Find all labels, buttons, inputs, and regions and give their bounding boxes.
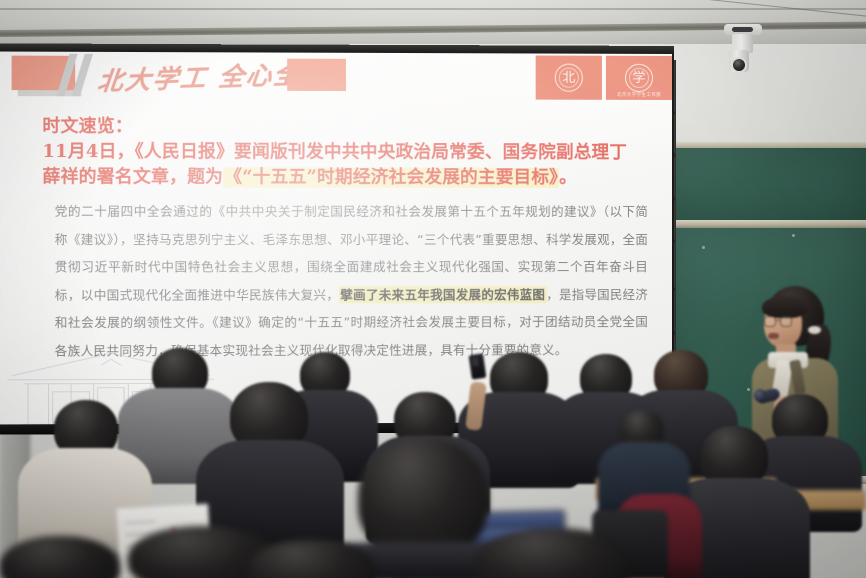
presenter-bangs [762, 296, 808, 318]
classroom-scene: 北大学工 全心全意 北 学 北京大学学生工作部 [0, 0, 866, 578]
institution-seal-icon: 学 北京大学学生工作部 [606, 56, 672, 100]
eyeglasses-icon [764, 316, 794, 327]
chalk-speck [702, 246, 705, 249]
seal-ring: 学 [625, 64, 653, 92]
slide-header: 北大学工 全心全意 北 学 北京大学学生工作部 [0, 51, 672, 112]
header-accent-block-right [287, 59, 346, 91]
upper-right-wall [672, 44, 866, 144]
lens-left [764, 316, 776, 327]
chalkboard-upper [672, 148, 866, 220]
header-logo-group: 北 学 北京大学学生工作部 [536, 55, 672, 99]
slide-title-block: 时文速览： 11月4日，《人民日报》要闻版刊发中共中央政治局常委、国务院副总理丁… [42, 114, 650, 190]
slide-title-line2-prefix: 薛祥的署名文章，题为 [42, 167, 223, 187]
chalk-speck [792, 234, 795, 237]
ceiling-seam [0, 8, 866, 10]
smartphone-icon[interactable] [468, 353, 486, 380]
slide-title-line2: 薛祥的署名文章，题为《“十五五”时期经济社会发展的主要目标》。 [42, 165, 650, 191]
seal-glyph: 学 [632, 71, 645, 84]
peking-university-seal-icon: 北 [536, 55, 602, 99]
calligraphy-logo: 北大学工 全心全意 [96, 55, 303, 99]
handout-line [125, 520, 155, 524]
slide-title-line2-suffix: 。 [559, 168, 577, 188]
student-head [358, 438, 488, 558]
camera-lens-icon [731, 57, 747, 73]
audience [0, 330, 866, 578]
slide-title-highlight: 《“十五五”时期经济社会发展的主要目标》 [223, 167, 559, 188]
seal-ring: 北 [555, 64, 583, 92]
seal-glyph: 北 [562, 71, 575, 84]
phone-camera-icon [472, 357, 479, 367]
slide-title-label: 时文速览： [42, 114, 650, 140]
seal-caption: 北京大学学生工作部 [606, 92, 672, 98]
camera-mount-slot [732, 27, 753, 32]
lens-right [780, 316, 792, 327]
slide-title-line1: 11月4日，《人民日报》要闻版刊发中共中央政治局常委、国务院副总理丁 [42, 140, 650, 166]
body-highlight: 擘画了未来五年我国发展的宏伟蓝图 [339, 286, 546, 303]
chalkboard-rail-middle [672, 220, 866, 228]
